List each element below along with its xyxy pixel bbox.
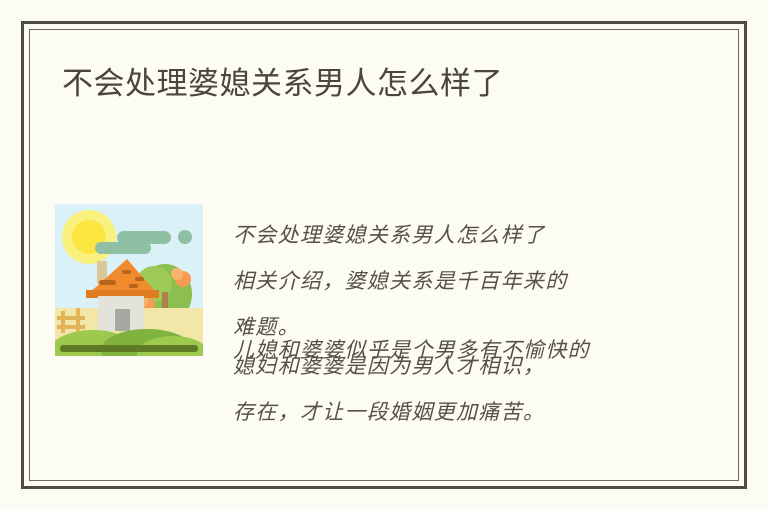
article-paragraph-2-layer-a: 媳妇和婆婆是因为男人才相识， 存在，才让一段婚姻更加痛苦。	[233, 343, 669, 435]
countryside-house-illustration	[55, 204, 203, 356]
article-content: 不会处理婆媳关系男人怎么样了 相关介绍，婆媳关系是千百年来的 难题。 儿媳和婆婆…	[0, 196, 768, 466]
article-text-block: 不会处理婆媳关系男人怎么样了 相关介绍，婆媳关系是千百年来的 难题。 儿媳和婆婆…	[233, 196, 669, 456]
document-page: 不会处理婆媳关系男人怎么样了	[0, 0, 768, 510]
page-title: 不会处理婆媳关系男人怎么样了	[62, 62, 702, 106]
